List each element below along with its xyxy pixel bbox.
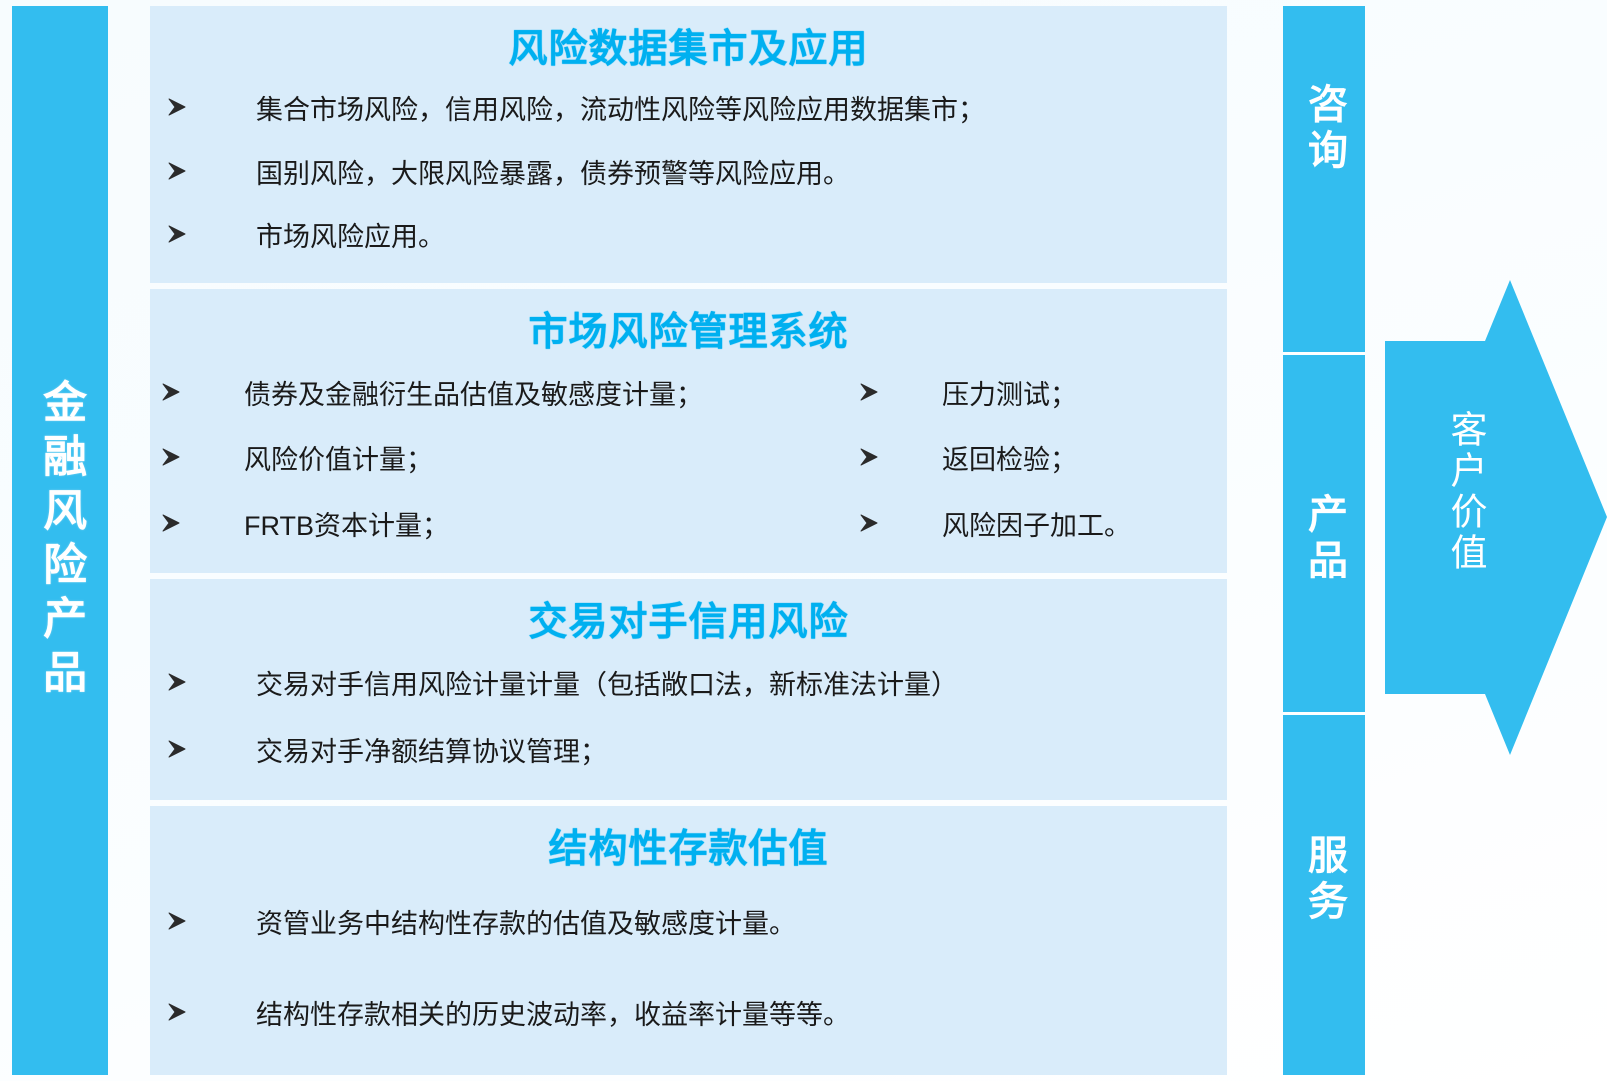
panel-market-risk-system: 市场风险管理系统 债券及金融衍生品估值及敏感度计量； [150,289,1227,572]
arrow-bullet-icon [166,1001,188,1023]
list-item-label: 资管业务中结构性存款的估值及敏感度计量。 [256,906,796,942]
panel-title: 市场风险管理系统 [150,311,1227,356]
list-item: 债券及金融衍生品估值及敏感度计量； [150,373,850,417]
left-category-bar: 金融风险产品 [12,6,108,1075]
customer-value-label: 客户价值 [1415,410,1485,574]
list-item-label: 压力测试； [942,377,1077,413]
arrow-bullet-icon [858,446,880,468]
arrow-bullet-icon [160,381,182,403]
stage-block-consulting: 咨询 [1283,6,1365,355]
list-item-label: 风险价值计量； [244,442,433,478]
list-item: 结构性存款相关的历史波动率，收益率计量等等。 [150,993,1227,1037]
left-category-label: 金融风险产品 [37,379,83,703]
bullet-column-left: 债券及金融衍生品估值及敏感度计量； 风险价值计量； [150,362,850,559]
panel-title: 交易对手信用风险 [150,601,1227,646]
panel-risk-data-mart: 风险数据集市及应用 集合市场风险，信用风险，流动性风险等风险应用数据集市； [150,6,1227,283]
bullet-column-right: 压力测试； 返回检验； [850,362,1227,559]
stage-block-product: 产品 [1283,355,1365,715]
list-item: 集合市场风险，信用风险，流动性风险等风险应用数据集市； [150,88,1227,132]
list-item: 市场风险应用。 [150,215,1227,259]
list-item: 国别风险，大限风险暴露，债券预警等风险应用。 [150,152,1227,196]
list-item-label: 集合市场风险，信用风险，流动性风险等风险应用数据集市； [256,92,985,128]
bullet-list: 集合市场风险，信用风险，流动性风险等风险应用数据集市； 国别风险，大限风险暴露，… [150,79,1227,278]
list-item: 压力测试； [850,373,1227,417]
list-item: 交易对手净额结算协议管理； [150,730,1227,774]
arrow-bullet-icon [166,910,188,932]
panel-counterparty-credit-risk: 交易对手信用风险 交易对手信用风险计量计量（包括敞口法，新标准法计量） [150,579,1227,800]
list-item: 资管业务中结构性存款的估值及敏感度计量。 [150,902,1227,946]
stage-label: 产品 [1303,493,1345,585]
list-item-label: 交易对手净额结算协议管理； [256,734,607,770]
arrow-bullet-icon [166,223,188,245]
list-item: 风险因子加工。 [850,504,1227,548]
panel-title: 风险数据集市及应用 [150,28,1227,73]
stage-column: 咨询 产品 服务 [1283,6,1365,1075]
list-item-label: 市场风险应用。 [256,219,445,255]
list-item-label: FRTB资本计量； [244,508,449,544]
arrow-bullet-icon [166,738,188,760]
list-item-label: 国别风险，大限风险暴露，债券预警等风险应用。 [256,156,850,192]
panel-stack: 风险数据集市及应用 集合市场风险，信用风险，流动性风险等风险应用数据集市； [150,6,1227,1075]
list-item-label: 风险因子加工。 [942,508,1131,544]
bullet-list: 资管业务中结构性存款的估值及敏感度计量。 结构性存款相关的历史波动率，收益率计量… [150,878,1227,1069]
list-item-label: 结构性存款相关的历史波动率，收益率计量等等。 [256,997,850,1033]
customer-value-arrow: 客户价值 [1385,280,1607,755]
panel-title: 结构性存款估值 [150,828,1227,873]
bullet-list: 债券及金融衍生品估值及敏感度计量； 风险价值计量； [150,362,1227,567]
arrow-bullet-icon [166,671,188,693]
arrow-bullet-icon [858,381,880,403]
panel-structured-deposit-valuation: 结构性存款估值 资管业务中结构性存款的估值及敏感度计量。 [150,806,1227,1075]
stage-label: 服务 [1303,834,1345,926]
list-item: 交易对手信用风险计量计量（包括敞口法，新标准法计量） [150,663,1227,707]
arrow-bullet-icon [166,96,188,118]
list-item: 风险价值计量； [150,438,850,482]
arrow-bullet-icon [160,446,182,468]
bullet-list: 交易对手信用风险计量计量（包括敞口法，新标准法计量） 交易对手净额结算协议管理； [150,652,1227,794]
arrow-bullet-icon [858,512,880,534]
list-item: 返回检验； [850,438,1227,482]
list-item-label: 交易对手信用风险计量计量（包括敞口法，新标准法计量） [256,667,958,703]
list-item-label: 债券及金融衍生品估值及敏感度计量； [244,377,703,413]
list-item-label: 返回检验； [942,442,1077,478]
arrow-bullet-icon [160,512,182,534]
list-item: FRTB资本计量； [150,504,850,548]
arrow-bullet-icon [166,160,188,182]
stage-block-service: 服务 [1283,715,1365,1075]
slide-root: 金融风险产品 风险数据集市及应用 集合市场风险，信用风险，流动性风险等风险应用数… [0,0,1607,1081]
stage-label: 咨询 [1303,83,1345,175]
